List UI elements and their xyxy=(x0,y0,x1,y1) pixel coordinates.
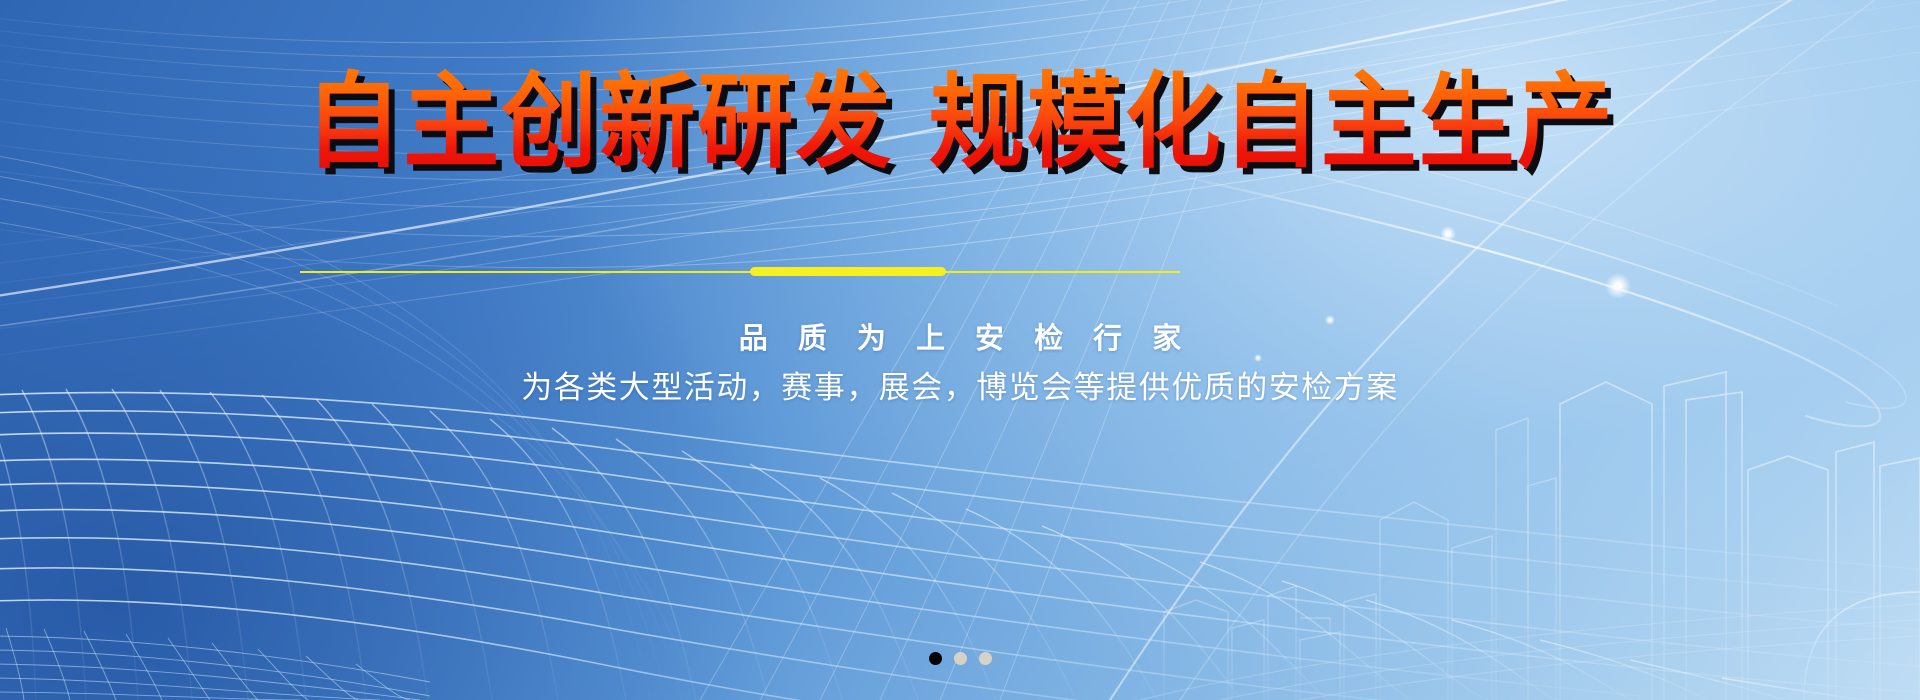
banner-title-container: 自主创新研发 规模化自主生产 自主创新研发 规模化自主生产 xyxy=(0,62,1920,182)
yellow-divider xyxy=(300,270,1180,273)
carousel-dot-2[interactable] xyxy=(954,652,967,665)
divider-thin-line xyxy=(300,271,1180,273)
banner-title: 自主创新研发 规模化自主生产 自主创新研发 规模化自主生产 xyxy=(305,57,1614,187)
banner-subtitle-primary: 品 质 为 上 安 检 行 家 xyxy=(0,315,1920,357)
divider-accent-bar xyxy=(750,267,946,276)
carousel-dot-1[interactable] xyxy=(929,652,942,665)
hero-banner: 自主创新研发 规模化自主生产 自主创新研发 规模化自主生产 品 质 为 上 安 … xyxy=(0,0,1920,700)
banner-title-text: 自主创新研发 规模化自主生产 xyxy=(305,62,1614,183)
carousel-dots[interactable] xyxy=(0,652,1920,665)
banner-subtitle-secondary: 为各类大型活动，赛事，展会，博览会等提供优质的安检方案 xyxy=(0,362,1920,407)
carousel-dot-3[interactable] xyxy=(979,652,992,665)
